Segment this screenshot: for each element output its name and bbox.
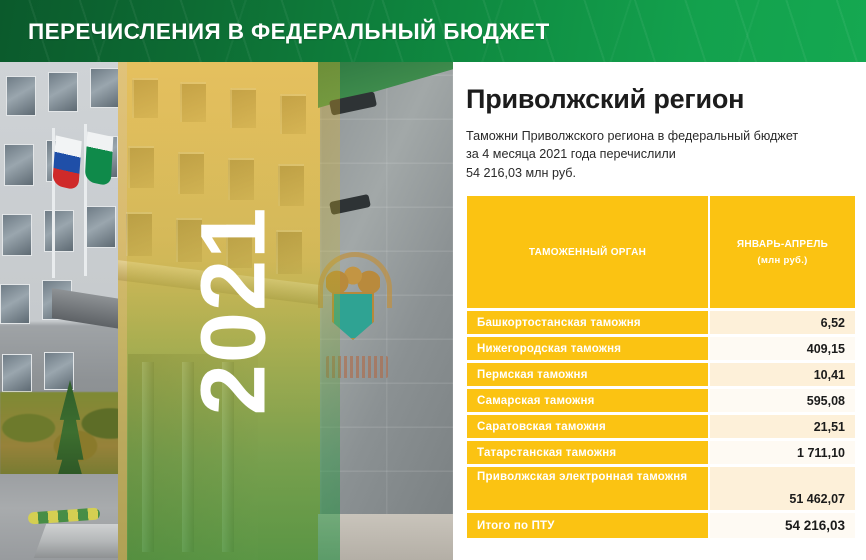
row-value: 6,52 [710,308,855,334]
building-window [2,354,32,392]
table-row: Нижегородская таможня 409,15 [467,334,855,360]
column-header-period-label: ЯНВАРЬ-АПРЕЛЬ [737,239,828,250]
page-title: Приволжский регион [466,84,866,115]
row-value: 595,08 [710,386,855,412]
photo-collage: 2021 [0,62,453,560]
table-row: Пермская таможня 10,41 [467,360,855,386]
building-window [4,144,34,186]
row-organ-name: Саратовская таможня [467,412,710,438]
row-organ-name: Пермская таможня [467,360,710,386]
table-header-row: ТАМОЖЕННЫЙ ОРГАН ЯНВАРЬ-АПРЕЛЬ (млн руб.… [467,196,855,308]
table-row: Татарстанская таможня 1 711,10 [467,438,855,464]
row-organ-name: Приволжская электронная таможня [467,464,710,510]
row-organ-name: Башкортостанская таможня [467,308,710,334]
building-window [6,76,36,116]
row-value: 10,41 [710,360,855,386]
row-value: 1 711,10 [710,438,855,464]
column-header-organ: ТАМОЖЕННЫЙ ОРГАН [467,196,710,308]
building-window [86,206,116,248]
row-organ-name: Самарская таможня [467,386,710,412]
page-banner: ПЕРЕЧИСЛЕНИЯ В ФЕДЕРАЛЬНЫЙ БЮДЖЕТ [0,0,866,62]
subtitle-line-3: 54 216,03 млн руб. [466,164,866,182]
table-row: Приволжская электронная таможня 51 462,0… [467,464,855,510]
column-header-period: ЯНВАРЬ-АПРЕЛЬ (млн руб.) [710,196,855,308]
customs-flag-icon [85,132,114,187]
subtitle-line-2: за 4 месяца 2021 года перечислили [466,145,866,163]
row-organ-name: Итого по ПТУ [467,510,710,538]
table-row-total: Итого по ПТУ 54 216,03 [467,510,855,538]
year-label: 2021 [187,207,279,416]
table-body: Башкортостанская таможня 6,52 Нижегородс… [467,308,855,538]
row-value: 409,15 [710,334,855,360]
building-window [48,72,78,112]
year-overlay: 2021 [127,62,340,560]
row-organ-name: Нижегородская таможня [467,334,710,360]
row-organ-name: Татарстанская таможня [467,438,710,464]
table-head: ТАМОЖЕННЫЙ ОРГАН ЯНВАРЬ-АПРЕЛЬ (млн руб.… [467,196,855,308]
banner-title: ПЕРЕЧИСЛЕНИЯ В ФЕДЕРАЛЬНЫЙ БЮДЖЕТ [28,19,550,45]
building-window [44,210,74,252]
row-value: 21,51 [710,412,855,438]
row-value: 54 216,03 [710,510,855,538]
content-column: Приволжский регион Таможни Приволжского … [466,62,866,182]
table-row: Саратовская таможня 21,51 [467,412,855,438]
transfers-table-wrapper: ТАМОЖЕННЫЙ ОРГАН ЯНВАРЬ-АПРЕЛЬ (млн руб.… [467,196,855,538]
building-window [2,214,32,256]
column-header-period-unit: (млн руб.) [710,255,855,266]
building-window [90,68,120,108]
transfers-table: ТАМОЖЕННЫЙ ОРГАН ЯНВАРЬ-АПРЕЛЬ (млн руб.… [467,196,855,538]
slide-root: ПЕРЕЧИСЛЕНИЯ В ФЕДЕРАЛЬНЫЙ БЮДЖЕТ [0,0,866,560]
table-row: Самарская таможня 595,08 [467,386,855,412]
photo-left-building [0,62,130,560]
russian-flag-icon [52,135,81,190]
page-subtitle: Таможни Приволжского региона в федеральн… [466,127,866,182]
row-value: 51 462,07 [710,464,855,510]
subtitle-line-1: Таможни Приволжского региона в федеральн… [466,129,798,143]
table-row: Башкортостанская таможня 6,52 [467,308,855,334]
building-window [0,284,30,324]
